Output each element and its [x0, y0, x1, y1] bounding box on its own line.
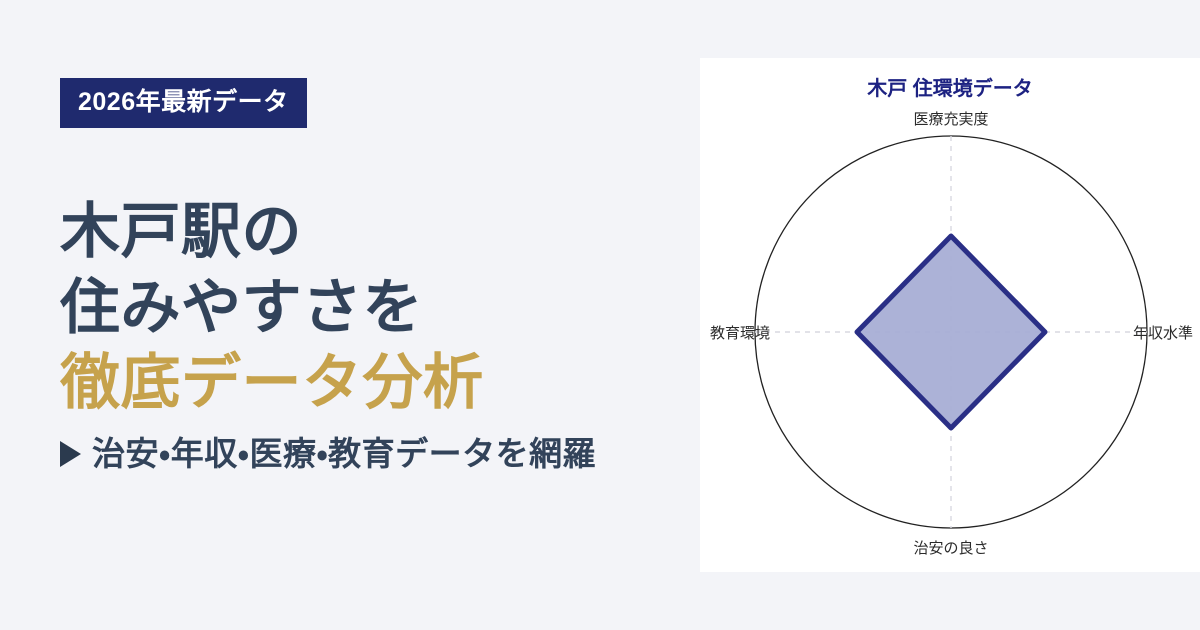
radar-data-polygon	[857, 236, 1045, 428]
radar-chart-card: 木戸 住環境データ 医療充実度 年収水準 治安の良さ 教育環境	[700, 58, 1200, 572]
subtitle-text: 治安・年収・医療・教育データを網羅	[92, 433, 596, 476]
radar-axis-label-bottom: 治安の良さ	[913, 540, 988, 557]
radar-chart-svg: 木戸 住環境データ 医療充実度 年収水準 治安の良さ 教育環境	[700, 58, 1200, 572]
page-title: 木戸駅の 住みやすさを 徹底データ分析	[60, 194, 700, 421]
chart-title: 木戸 住環境データ	[866, 76, 1033, 100]
play-triangle-icon	[60, 441, 81, 467]
radar-axis-label-left: 教育環境	[710, 325, 770, 342]
subtitle: 治安・年収・医療・教育データを網羅	[60, 433, 700, 476]
headline-line-1: 木戸駅の	[60, 194, 700, 270]
headline-line-3: 徹底データ分析	[60, 345, 700, 421]
left-text-panel: 2026年最新データ 木戸駅の 住みやすさを 徹底データ分析 治安・年収・医療・…	[0, 0, 700, 630]
radar-axis-label-top: 医療充実度	[913, 111, 988, 128]
radar-axis-label-right: 年収水準	[1133, 325, 1193, 342]
latest-data-badge: 2026年最新データ	[60, 78, 307, 128]
headline-line-2: 住みやすさを	[60, 270, 700, 346]
ogp-canvas: 2026年最新データ 木戸駅の 住みやすさを 徹底データ分析 治安・年収・医療・…	[0, 0, 1200, 630]
